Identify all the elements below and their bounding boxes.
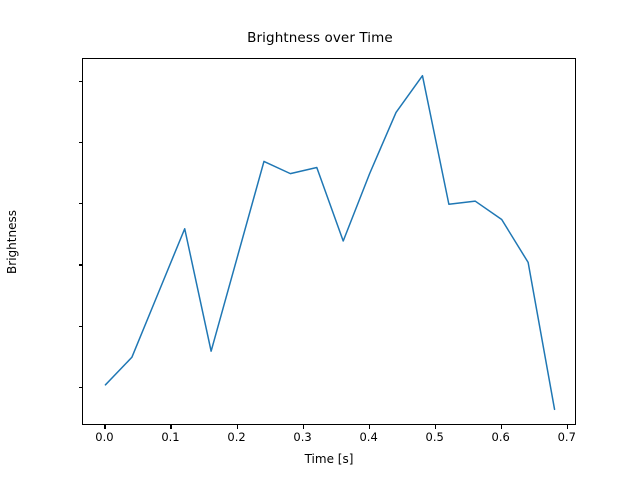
brightness-polyline: [105, 76, 554, 410]
x-tick-label: 0.7: [537, 430, 597, 444]
x-tick-label: 0.3: [273, 430, 333, 444]
x-tick-label: 0.1: [140, 430, 200, 444]
chart-figure: Brightness over Time Brightness 80100120…: [0, 0, 640, 480]
x-tick-label: 0.0: [74, 430, 134, 444]
x-tick-label: 0.6: [471, 430, 531, 444]
x-tick-label: 0.5: [405, 430, 465, 444]
plot-area: [82, 58, 576, 425]
x-tick-label: 0.2: [207, 430, 267, 444]
x-tick-label: 0.4: [339, 430, 399, 444]
x-axis-label: Time [s]: [82, 452, 576, 466]
chart-title: Brightness over Time: [0, 30, 640, 46]
y-axis-label: Brightness: [5, 210, 19, 274]
brightness-line-series: [83, 59, 577, 426]
